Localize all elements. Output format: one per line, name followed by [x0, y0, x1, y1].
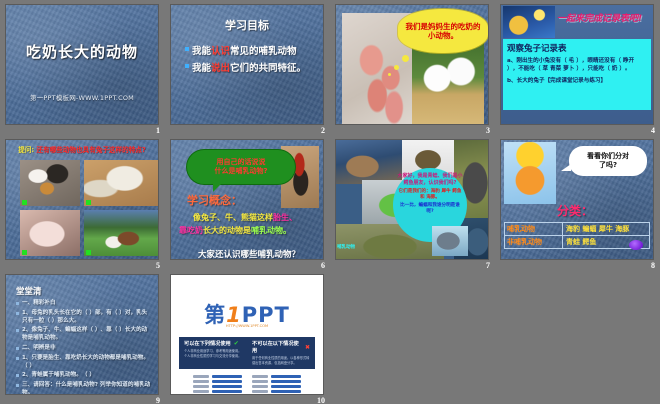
slide-cell-8[interactable]: 看看你们分对 了吗? 分类： 哺乳动物 海豹 蝙蝠 犀牛 海豚 非哺乳动物 青蛙… — [495, 135, 660, 270]
slide-8-heading: 分类： — [557, 202, 593, 219]
concept-line2-a: 靠吃奶 — [179, 226, 203, 235]
license-allow-block: 可以在下列情况使用 ✔ 个人非商业用途学习、参考等用途使用。个人非商业性质的学习… — [179, 337, 247, 369]
exercise-item-text: 1、母兔的乳头长在它的（ ）部，有（ ）对，乳头只有一粒（ ）那么大。 — [22, 309, 152, 325]
slide-cell-6[interactable]: 用自己的话说说 什么是哺乳动物? 学习概念： 像兔子、牛、熊猫这样胎生、 靠吃奶… — [165, 135, 330, 270]
exercise-item-text: 2、青蛙属于哺乳动物。（ ） — [22, 371, 95, 379]
slide-7-corner-text: 哺乳动物 — [337, 244, 355, 250]
slide-7-circle-line-1: 大家好，我是青蛙、我们是小鳄鱼朋友，认识我们吗? — [397, 173, 463, 187]
license-column — [193, 375, 242, 395]
slide-3-bubble-text: 我们是妈妈生的吃奶的小动物。 — [398, 22, 488, 41]
license-value-lines — [212, 375, 242, 395]
list-item: 1、母兔的乳头长在它的（ ）部，有（ ）对，乳头只有一粒（ ）那么大。 — [16, 309, 152, 325]
slide-6-ask: 大家还认识哪些哺乳动物？ — [181, 248, 317, 260]
slide-cell-7[interactable]: 大家好，我是青蛙、我们是小鳄鱼朋友，认识我们吗? 它们是我们的：海豹 犀牛 鳄鱼… — [330, 135, 495, 270]
bullet-square-icon — [16, 302, 19, 305]
slide-2[interactable]: 学习目标 我能认识常见的哺乳动物 我能说出它们的共同特征。 — [170, 4, 324, 125]
slide-3[interactable]: 我们是妈妈生的吃奶的小动物。 — [335, 4, 489, 125]
license-deny-note: 用于任何商业性质的用途。以各种形式转载出售本资源，包括网盘分享。 — [252, 356, 310, 366]
concept-line1-a: 像兔子、牛、熊猫这样 — [193, 213, 273, 222]
slide-number-5: 5 — [156, 261, 160, 270]
slide-thumbnail-grid: 吃奶长大的动物 第一PPT模板网-WWW.1PPT.COM 1 学习目标 我能认… — [0, 0, 660, 404]
observation-record-panel: 观察兔子记录表 a、刚出生的小兔没有（ 毛 ），眼睛还没有（ 睁开 ），不能吃（… — [503, 39, 651, 110]
slide-5-question: 提问: 还有哪些动物也具有兔子这样的特点? — [10, 144, 154, 154]
empty-cell — [495, 270, 660, 404]
license-deny-heading: 不可以在以下情况使用 ✖ — [252, 340, 310, 354]
slide-cell-10[interactable]: 第1PPT HTTP://WWW.1PPT.COM 可以在下列情况使用 ✔ 个人… — [165, 270, 330, 404]
speech-bubble: 我们是妈妈生的吃奶的小动物。 — [398, 9, 488, 53]
exercise-item-text: 二、明辨是非 — [22, 344, 56, 352]
slide-7[interactable]: 大家好，我是青蛙、我们是小鳄鱼朋友，认识我们吗? 它们是我们的：海豹 犀牛 鳄鱼… — [335, 139, 489, 260]
slide-cell-3[interactable]: 我们是妈妈生的吃奶的小动物。 3 — [330, 0, 495, 135]
slide-10[interactable]: 第1PPT HTTP://WWW.1PPT.COM 可以在下列情况使用 ✔ 个人… — [170, 274, 324, 395]
license-deny-block: 不可以在以下情况使用 ✖ 用于任何商业性质的用途。以各种形式转载出售本资源，包括… — [247, 337, 315, 369]
slide-cell-2[interactable]: 学习目标 我能认识常见的哺乳动物 我能说出它们的共同特征。 2 — [165, 0, 330, 135]
slide-number-4: 4 — [651, 126, 655, 135]
slide-number-2: 2 — [321, 126, 325, 135]
speech-bubble: 看看你们分对 了吗? — [569, 146, 647, 176]
slide-9-title: 堂堂清 — [16, 285, 42, 297]
slide-4-banner: 一起来完成记录表吧! — [557, 11, 649, 24]
slide-cell-4[interactable]: 一起来完成记录表吧! 观察兔子记录表 a、刚出生的小兔没有（ 毛 ），眼睛还没有… — [495, 0, 660, 135]
bullet-square-icon — [16, 347, 19, 350]
license-detail-columns — [193, 375, 301, 395]
license-band: 可以在下列情况使用 ✔ 个人非商业用途学习、参考等用途使用。个人非商业性质的学习… — [179, 337, 315, 369]
slide-4-line-b: b、长大的兔子【完成课堂记录与练习】 — [507, 77, 647, 85]
slide-7-circle-line-3: 比一比，蝙蝠和我谁分明是谁呢? — [397, 203, 463, 215]
seals-photo — [336, 140, 402, 184]
list-item: 一、精彩补白 — [16, 299, 152, 307]
slide-1[interactable]: 吃奶长大的动物 第一PPT模板网-WWW.1PPT.COM — [5, 4, 159, 125]
bullet-1-pre: 我能 — [192, 46, 211, 57]
slide-number-6: 6 — [321, 261, 325, 270]
bullet-square-icon — [16, 312, 19, 315]
slide-6-concept-line-1: 像兔子、牛、熊猫这样胎生、 — [193, 212, 317, 223]
slide-number-1: 1 — [156, 126, 160, 135]
slide-8-bubble-line-1: 看看你们分对 — [587, 152, 629, 160]
table-cell-label: 哺乳动物 — [505, 223, 563, 235]
bullet-square-icon — [16, 329, 19, 332]
exercise-item-text: 一、精彩补白 — [22, 299, 56, 307]
license-column — [252, 375, 301, 395]
slide-8[interactable]: 看看你们分对 了吗? 分类： 哺乳动物 海豹 蝙蝠 犀牛 海豚 非哺乳动物 青蛙… — [500, 139, 654, 260]
list-item: 2、青蛙属于哺乳动物。（ ） — [16, 371, 152, 379]
license-value-lines — [271, 375, 301, 395]
empty-cell — [330, 270, 495, 404]
concept-line1-b: 胎生、 — [273, 213, 297, 222]
bullet-2-highlight: 说出 — [211, 63, 230, 74]
slide-cell-1[interactable]: 吃奶长大的动物 第一PPT模板网-WWW.1PPT.COM 1 — [0, 0, 165, 135]
slide-1-title: 吃奶长大的动物 — [6, 41, 158, 62]
slide-number-3: 3 — [486, 126, 490, 135]
list-item: 1、只要是胎生、靠吃奶长大的动物都是哺乳动物。（ ） — [16, 354, 152, 370]
slide-4-line-a: a、刚出生的小兔没有（ 毛 ），眼睛还没有（ 睁开 ），不能吃（ 草 青菜 萝卜… — [507, 57, 647, 74]
slide-7-circle-line-2: 它们是我们的：海豹 犀牛 鳄鱼 和 海豚。 — [397, 189, 463, 201]
purple-ball-decoration — [629, 240, 643, 250]
exercise-item-text: 三、请回答：什么是哺乳动物? 列举你知道的哺乳动物。 — [22, 381, 152, 395]
slide-9[interactable]: 堂堂清 一、精彩补白 1、母兔的乳头长在它的（ ）部，有（ ）对，乳头只有一粒（… — [5, 274, 159, 395]
cat-nursing-photo — [20, 160, 80, 206]
license-allow-note: 个人非商业用途学习、参考等用途使用。个人非商业性质的学习与交流分享使用。 — [184, 349, 242, 359]
slide-6-bubble-line-1: 用自己的话说说 — [217, 158, 266, 167]
deny-title-text: 不可以在以下情况使用 — [252, 340, 302, 354]
slide-6-concept-line-2: 靠吃奶长大的动物是哺乳动物。 — [179, 225, 317, 236]
concept-line2-c: 哺乳动物。 — [251, 226, 291, 235]
check-icon: ✔ — [234, 340, 239, 347]
bubble-tail-dot — [402, 55, 409, 62]
bullet-square-icon — [185, 47, 189, 51]
exercise-item-text: 2、像兔子、牛、蝙蝠这样（ ）、靠（ ）长大的动物是哺乳动物。 — [22, 326, 152, 342]
table-cell-label: 非哺乳动物 — [505, 236, 563, 248]
slide-4-panel-title: 观察兔子记录表 — [507, 42, 647, 54]
license-key-lines — [252, 375, 268, 395]
bullet-1-post: 常见的哺乳动物 — [230, 46, 297, 57]
moon-child-illustration — [503, 6, 555, 38]
slide-5-question-prefix: 提问: — [18, 146, 34, 154]
slide-4[interactable]: 一起来完成记录表吧! 观察兔子记录表 a、刚出生的小兔没有（ 毛 ），眼睛还没有… — [500, 4, 654, 125]
list-item: 我能说出它们的共同特征。 — [185, 60, 315, 74]
slide-number-8: 8 — [651, 261, 655, 270]
allow-title-text: 可以在下列情况使用 — [184, 340, 231, 347]
bullet-square-icon — [16, 374, 19, 377]
table-cell-items: 海豹 蝙蝠 犀牛 海豚 — [563, 223, 649, 235]
slide-number-7: 7 — [486, 261, 490, 270]
license-key-lines — [193, 375, 209, 395]
list-item: 2、像兔子、牛、蝙蝠这样（ ）、靠（ ）长大的动物是哺乳动物。 — [16, 326, 152, 342]
slide-number-10: 10 — [317, 396, 325, 404]
slide-6-bubble-line-2: 什么是哺乳动物? — [214, 167, 267, 176]
slide-6[interactable]: 用自己的话说说 什么是哺乳动物? 学习概念： 像兔子、牛、熊猫这样胎生、 靠吃奶… — [170, 139, 324, 260]
logo-url: HTTP://WWW.1PPT.COM — [171, 324, 323, 328]
speech-bubble: 用自己的话说说 什么是哺乳动物? — [187, 150, 295, 184]
table-row: 非哺乳动物 青蛙 鳄鱼 — [505, 236, 649, 248]
bullet-square-icon — [16, 384, 19, 387]
list-item: 二、明辨是非 — [16, 344, 152, 352]
slide-9-exercise-list: 一、精彩补白 1、母兔的乳头长在它的（ ）部，有（ ）对，乳头只有一粒（ ）那么… — [16, 299, 152, 395]
slide-cell-5[interactable]: 提问: 还有哪些动物也具有兔子这样的特点? 5 — [0, 135, 165, 270]
exercise-item-text: 1、只要是胎生、靠吃奶长大的动物都是哺乳动物。（ ） — [22, 354, 152, 370]
list-item: 我能认识常见的哺乳动物 — [185, 43, 315, 57]
slide-1-subtitle: 第一PPT模板网-WWW.1PPT.COM — [6, 92, 158, 102]
sheep-nursing-photo — [84, 160, 158, 206]
slide-8-bubble-line-2: 了吗? — [599, 161, 617, 169]
bullet-square-icon — [16, 357, 19, 360]
cross-icon: ✖ — [305, 344, 310, 351]
bubble-tail-dot — [394, 65, 399, 70]
slide-5-question-text: 还有哪些动物也具有兔子这样的特点? — [36, 146, 145, 154]
bullet-1-highlight: 认识 — [211, 46, 230, 57]
list-item: 三、请回答：什么是哺乳动物? 列举你知道的哺乳动物。 — [16, 381, 152, 395]
bullet-2-pre: 我能 — [192, 63, 211, 74]
bullet-2-post: 它们的共同特征。 — [230, 63, 306, 74]
bullet-square-icon — [185, 64, 189, 68]
pig-nursing-photo — [20, 210, 80, 256]
slide-cell-9[interactable]: 堂堂清 一、精彩补白 1、母兔的乳头长在它的（ ）部，有（ ）对，乳头只有一粒（… — [0, 270, 165, 404]
bubble-tail-dot — [388, 73, 391, 76]
slide-2-title: 学习目标 — [171, 17, 323, 33]
slide-6-concept-label: 学习概念： — [187, 192, 242, 208]
torchic-pokemon-illustration — [504, 142, 556, 204]
table-row: 哺乳动物 海豹 蝙蝠 犀牛 海豚 — [505, 223, 649, 236]
dolphin-photo — [432, 226, 468, 256]
concept-line2-b: 长大的动物是 — [203, 226, 251, 235]
slide-number-9: 9 — [156, 396, 160, 404]
cow-and-calf-photo — [84, 210, 158, 256]
slide-2-bullet-list: 我能认识常见的哺乳动物 我能说出它们的共同特征。 — [185, 43, 315, 77]
slide-5[interactable]: 提问: 还有哪些动物也具有兔子这样的特点? — [5, 139, 159, 260]
license-allow-heading: 可以在下列情况使用 ✔ — [184, 340, 242, 347]
